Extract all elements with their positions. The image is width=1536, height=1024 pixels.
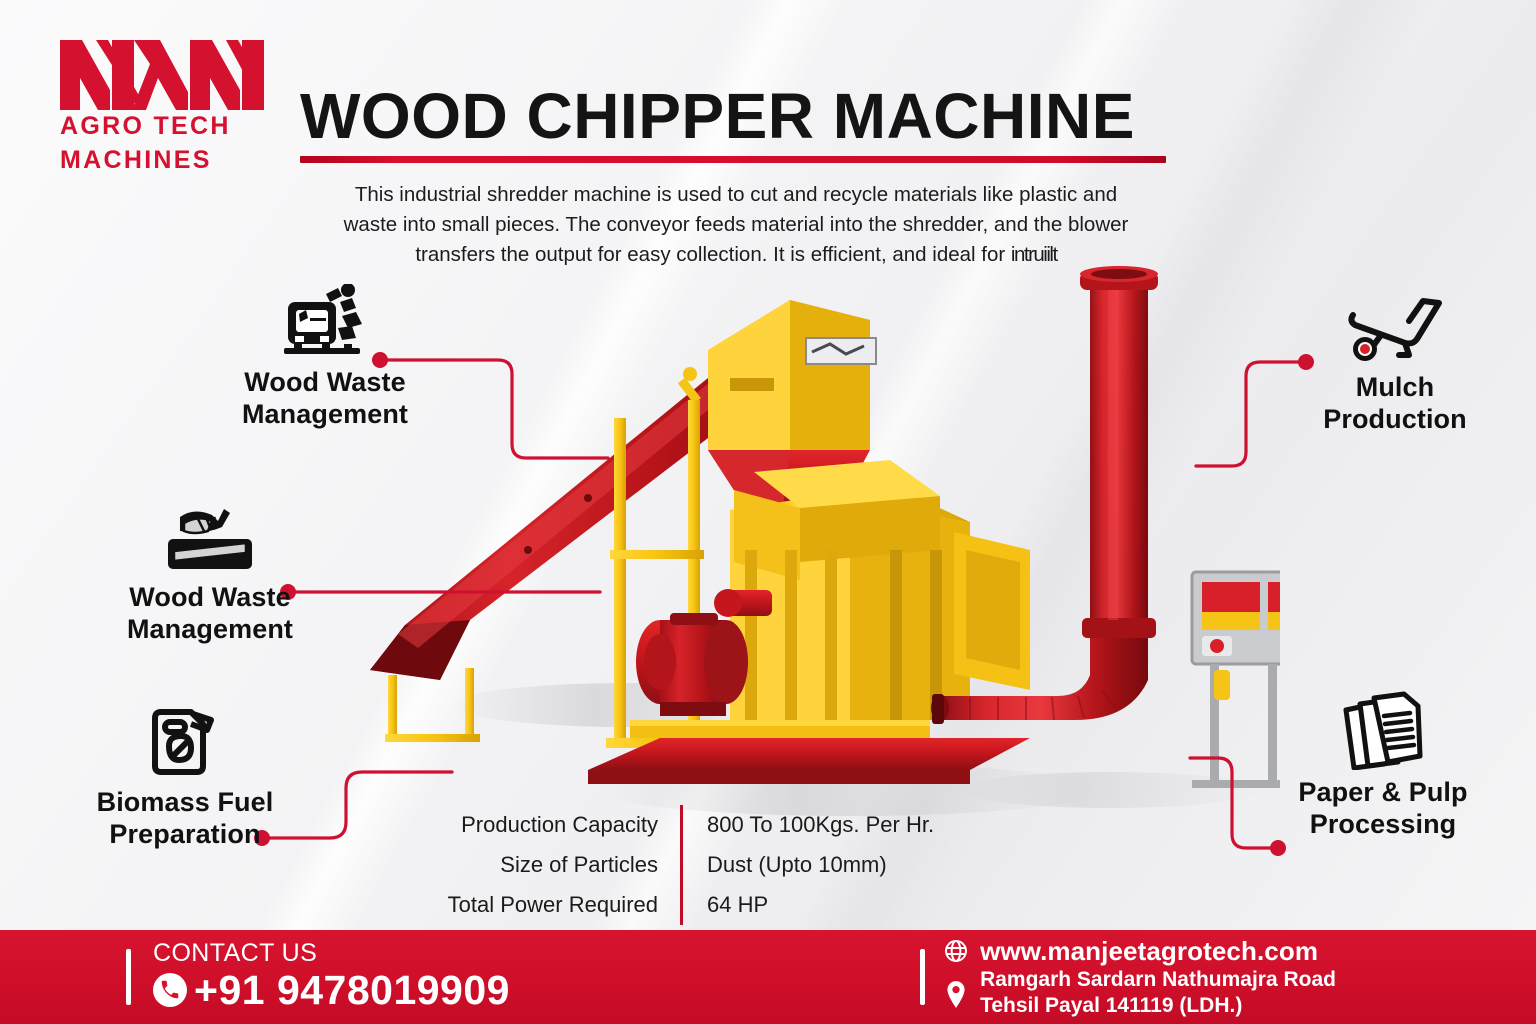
spec-key: Production Capacity: [440, 812, 680, 838]
phone-number[interactable]: +91 9478019909: [153, 967, 510, 1014]
description-line-2: waste into small pieces. The conveyor fe…: [296, 210, 1176, 240]
feature-paper-pulp-processing[interactable]: Paper & Pulp Processing: [1268, 690, 1498, 841]
map-pin-icon: [943, 980, 969, 1006]
spec-row: Production Capacity 800 To 100Kgs. Per H…: [440, 805, 960, 845]
phone-number-text: +91 9478019909: [194, 967, 510, 1014]
spec-value: 800 To 100Kgs. Per Hr.: [683, 812, 934, 838]
logo-line-2: MACHINES: [60, 146, 270, 175]
spec-key: Total Power Required: [440, 892, 680, 918]
feature-label: Paper & Pulp Processing: [1268, 776, 1498, 841]
control-panel: [1192, 572, 1280, 788]
motor: [636, 613, 748, 716]
address-line-1: Ramgarh Sardarn Nathumajra Road: [980, 967, 1336, 993]
globe-icon: [943, 938, 969, 964]
phone-icon: [153, 973, 187, 1007]
address-divider: [920, 949, 925, 1005]
contact-us-label: CONTACT US: [153, 940, 510, 966]
contact-block: CONTACT US +91 9478019909: [126, 940, 510, 1013]
address-block: www.manjeetagrotech.com Ramgarh Sardarn …: [920, 936, 1336, 1018]
base-frame: [588, 720, 1030, 784]
address-row: Ramgarh Sardarn Nathumajra Road Tehsil P…: [943, 967, 1336, 1018]
logo-line-1: AGRO TECH: [60, 112, 270, 141]
infographic-poster: AGRO TECH MACHINES WOOD CHIPPER MACHINE …: [0, 0, 1536, 1024]
specifications-table: Production Capacity 800 To 100Kgs. Per H…: [440, 805, 960, 925]
feature-biomass-fuel-preparation[interactable]: Biomass Fuel Preparation: [60, 700, 310, 851]
spec-value: 64 HP: [683, 892, 768, 918]
contact-divider: [126, 949, 131, 1005]
address-text: Ramgarh Sardarn Nathumajra Road Tehsil P…: [980, 967, 1336, 1018]
spec-value: Dust (Upto 10mm): [683, 852, 887, 878]
robot-arm-machine-icon: [200, 280, 450, 360]
spec-row: Size of Particles Dust (Upto 10mm): [440, 845, 960, 885]
feature-mulch-production[interactable]: Mulch Production: [1290, 285, 1500, 436]
address-line-2: Tehsil Payal 141119 (LDH.): [980, 993, 1336, 1019]
connector-dot-paper: [1270, 840, 1286, 856]
wood-chipper-machine-illustration: [330, 250, 1280, 840]
title-underline: [300, 156, 1166, 163]
documents-stack-icon: [1268, 690, 1498, 770]
spec-key: Size of Particles: [440, 852, 680, 878]
contact-footer: CONTACT US +91 9478019909 www.manjeetagr…: [0, 930, 1536, 1024]
feature-label: Mulch Production: [1290, 371, 1500, 436]
description-line-1: This industrial shredder machine is used…: [296, 180, 1176, 210]
wheelbarrow-icon: [1290, 285, 1500, 365]
feature-label: Biomass Fuel Preparation: [60, 786, 310, 851]
website-row[interactable]: www.manjeetagrotech.com: [943, 936, 1336, 967]
website-url: www.manjeetagrotech.com: [980, 936, 1318, 967]
feature-label: Wood Waste Management: [85, 581, 335, 646]
feature-wood-waste-management-mid[interactable]: Wood Waste Management: [85, 495, 335, 646]
fuel-can-leaf-icon: [60, 700, 310, 780]
mam-monogram-icon: [60, 34, 265, 110]
brand-logo: AGRO TECH MACHINES: [60, 34, 270, 175]
feature-label: Wood Waste Management: [200, 366, 450, 431]
page-title: WOOD CHIPPER MACHINE: [300, 84, 1180, 148]
spec-row: Total Power Required 64 HP: [440, 885, 960, 925]
wood-logs-icon: [85, 495, 335, 575]
shredder-body: [714, 460, 1030, 720]
feature-wood-waste-management-top[interactable]: Wood Waste Management: [200, 280, 450, 431]
